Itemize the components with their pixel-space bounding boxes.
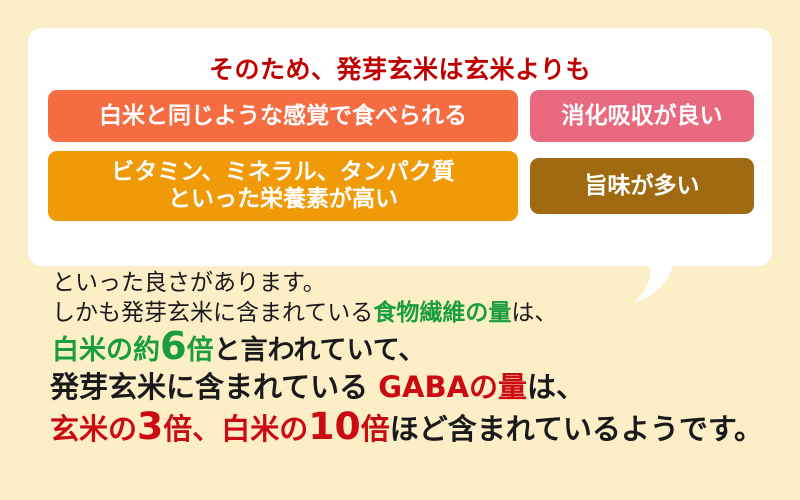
prose-line-3-unit: 倍 <box>187 335 214 366</box>
prose-line-5-tail: ほど含まれているようです。 <box>390 412 763 446</box>
prose-line-1-text: といった良さがあります。 <box>52 270 326 296</box>
prose-highlight-dietary-fiber: 食物繊維の量 <box>373 300 511 326</box>
prose-line-3: 白米の約6倍と言われていて、 <box>52 332 792 364</box>
prose-line-5-mid: 倍、白米の <box>163 412 308 446</box>
pill-more-umami-label: 旨味が多い <box>585 173 700 200</box>
prose-line-2-lead: しかも発芽玄米に含まれている <box>52 300 373 326</box>
pill-good-digestion: 消化吸収が良い <box>530 90 754 142</box>
prose-line-4-tail: は、 <box>527 370 585 404</box>
prose-number-3: 3 <box>137 404 163 448</box>
pill-eaten-like-white-rice-label: 白米と同じような感覚で食べられる <box>99 103 467 130</box>
prose-highlight-gaba: GABAの量 <box>378 370 527 404</box>
prose-line-3-tail: と言われていて、 <box>214 335 426 366</box>
pill-high-nutrients-label-line2: といった栄養素が高い <box>111 186 455 213</box>
prose-line-5-unit: 倍 <box>361 412 390 446</box>
prose-line-2-tail: は、 <box>511 300 557 326</box>
benefit-pill-grid: 白米と同じような感覚で食べられる 消化吸収が良い ビタミン、ミネラル、タンパク質… <box>48 90 754 230</box>
card-heading: そのため、発芽玄米は玄米よりも <box>28 50 772 86</box>
prose-line-3-lead: 白米の約 <box>52 335 160 366</box>
prose-number-10: 10 <box>308 404 360 448</box>
pill-high-nutrients-text: ビタミン、ミネラル、タンパク質 といった栄養素が高い <box>111 159 455 212</box>
speech-bubble-card: そのため、発芽玄米は玄米よりも 白米と同じような感覚で食べられる 消化吸収が良い… <box>28 28 772 266</box>
benefit-row-1: 白米と同じような感覚で食べられる 消化吸収が良い <box>48 90 754 142</box>
infographic-slide: そのため、発芽玄米は玄米よりも 白米と同じような感覚で食べられる 消化吸収が良い… <box>0 0 800 500</box>
pill-good-digestion-label: 消化吸収が良い <box>562 103 723 130</box>
benefit-row-2: ビタミン、ミネラル、タンパク質 といった栄養素が高い 旨味が多い <box>48 151 754 221</box>
prose-line-2: しかも発芽玄米に含まれている食物繊維の量は、 <box>52 302 792 325</box>
prose-line-4: 発芽玄米に含まれている GABAの量は、 <box>50 373 792 402</box>
prose-line-4-lead: 発芽玄米に含まれている <box>50 370 378 404</box>
pill-more-umami: 旨味が多い <box>530 158 754 214</box>
prose-number-6: 6 <box>160 324 187 369</box>
prose-line-1: といった良さがあります。 <box>52 272 792 295</box>
pill-high-nutrients: ビタミン、ミネラル、タンパク質 といった栄養素が高い <box>48 151 518 221</box>
pill-eaten-like-white-rice: 白米と同じような感覚で食べられる <box>48 90 518 142</box>
prose-line-5-lead: 玄米の <box>50 412 137 446</box>
body-paragraph: といった良さがあります。 しかも発芽玄米に含まれている食物繊維の量は、 白米の約… <box>52 272 792 453</box>
pill-high-nutrients-label-line1: ビタミン、ミネラル、タンパク質 <box>111 159 455 185</box>
prose-line-5: 玄米の3倍、白米の10倍ほど含まれているようです。 <box>50 411 792 444</box>
